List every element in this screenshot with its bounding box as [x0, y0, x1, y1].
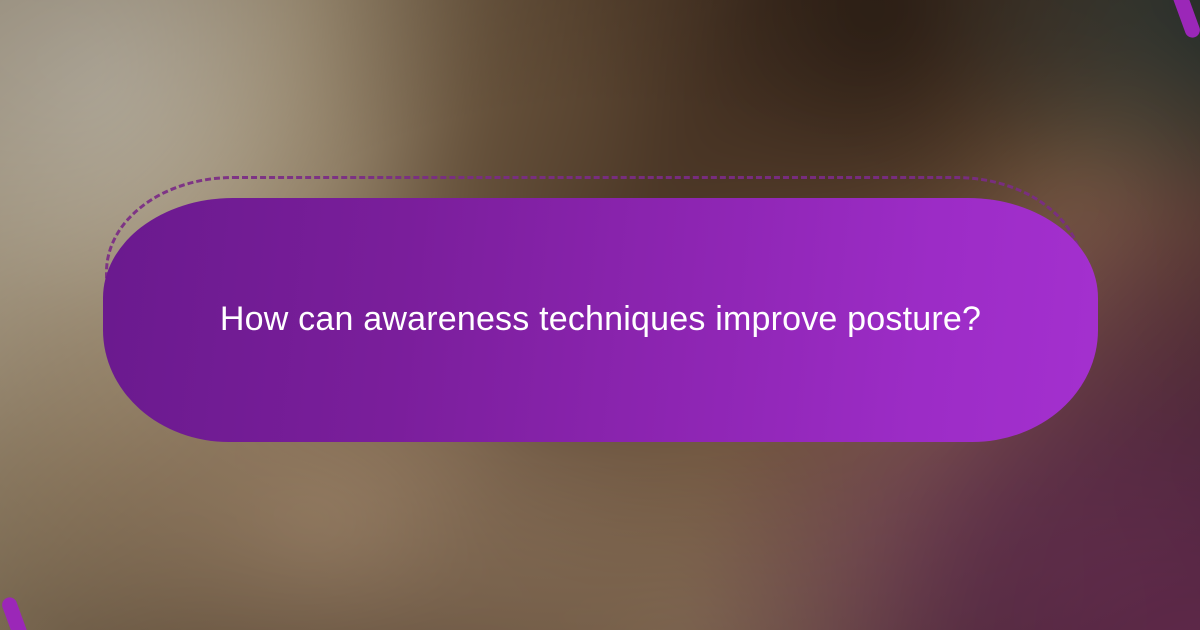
- question-text: How can awareness techniques improve pos…: [103, 198, 1098, 442]
- question-card[interactable]: How can awareness techniques improve pos…: [103, 186, 1098, 442]
- poster-canvas: How can awareness techniques improve pos…: [0, 0, 1200, 630]
- card-surface[interactable]: How can awareness techniques improve pos…: [103, 198, 1098, 442]
